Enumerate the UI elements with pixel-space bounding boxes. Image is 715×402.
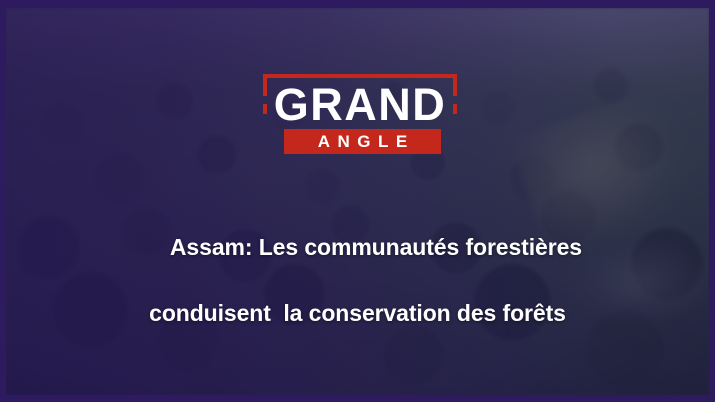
grand-angle-logo: GRAND ANGLE bbox=[255, 66, 465, 156]
headline: Assam: Les communautés forestières condu… bbox=[6, 198, 709, 395]
logo-angle-label: ANGLE bbox=[310, 133, 415, 150]
headline-line-1: Assam: Les communautés forestières bbox=[170, 234, 582, 260]
headline-line-2: conduisent la conservation des forêts bbox=[6, 297, 709, 330]
video-stage[interactable]: GRAND ANGLE Assam: Les communautés fores… bbox=[6, 8, 709, 395]
logo-angle-banner: ANGLE bbox=[284, 129, 441, 154]
logo-wordmark: GRAND bbox=[255, 82, 465, 127]
video-frame: GRAND ANGLE Assam: Les communautés fores… bbox=[0, 0, 715, 402]
